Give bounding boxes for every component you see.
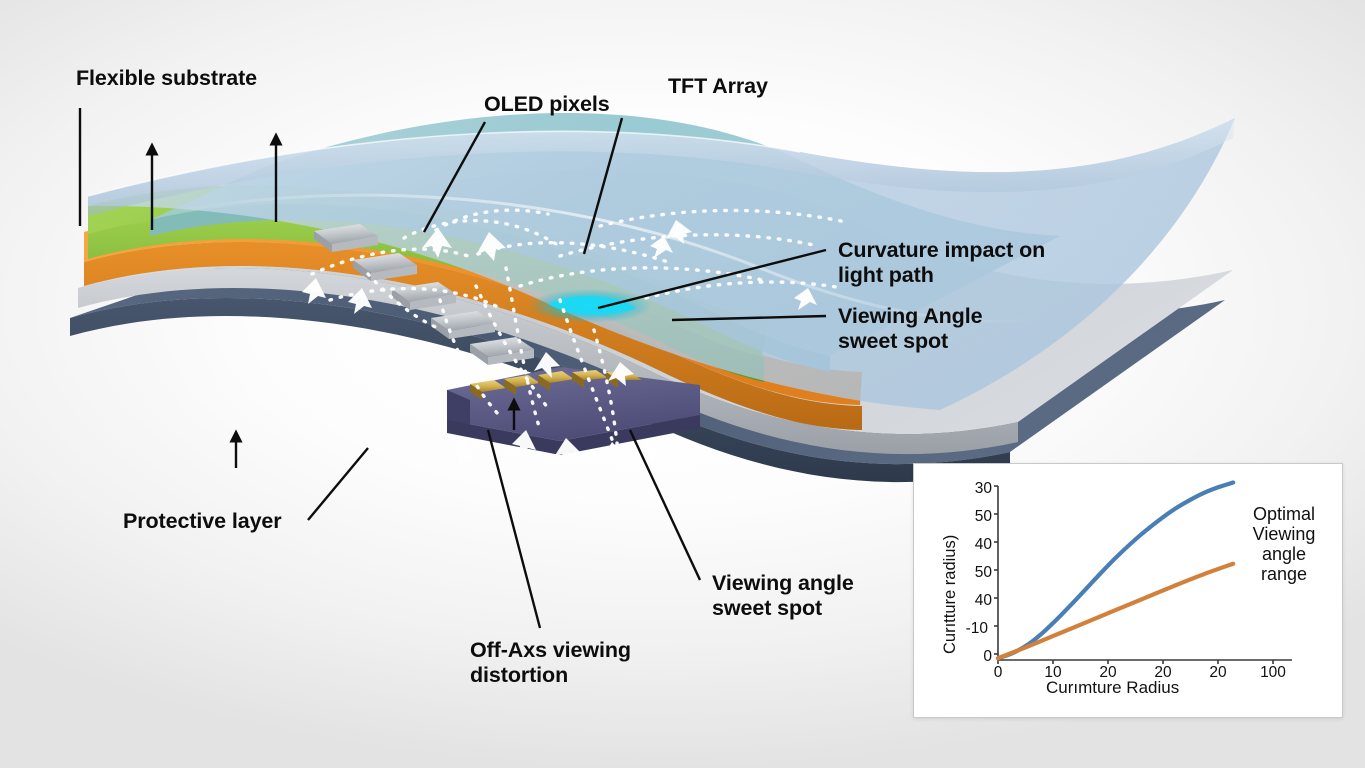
callout-flexible-substrate: Flexible substrate [76,66,257,91]
leader-viewing-bottom [630,430,700,580]
callout-protective-layer: Protective layer [123,509,282,534]
chart-series-orange [998,564,1233,659]
leader-offaxis [488,430,540,628]
callout-oled-pixels: OLED pixels [484,92,610,117]
diagram-canvas: Flexible substrate OLED pixels TFT Array… [0,0,1365,768]
callout-tft-array: TFT Array [668,74,768,99]
chart-series-blue [998,483,1233,659]
callout-curvature-impact: Curvature impact on light path [838,238,1045,289]
callout-viewing-angle-sweet-spot-right: Viewing Angle sweet spot [838,304,982,355]
inset-chart-panel: Curıtture radius) Curımture Radius 30 50… [913,463,1343,718]
chart-plot-area [914,464,1344,719]
callout-viewing-angle-sweet-spot-bottom: Viewing angle sweet spot [712,571,854,622]
callout-off-axis-distortion: Off-Axs viewing distortion [470,638,631,689]
leader-protective [308,448,368,520]
tft-array-block [447,367,700,455]
sweet-spot-glow [528,289,652,323]
chart-legend: Optimal Viewing angle range [1232,504,1336,585]
